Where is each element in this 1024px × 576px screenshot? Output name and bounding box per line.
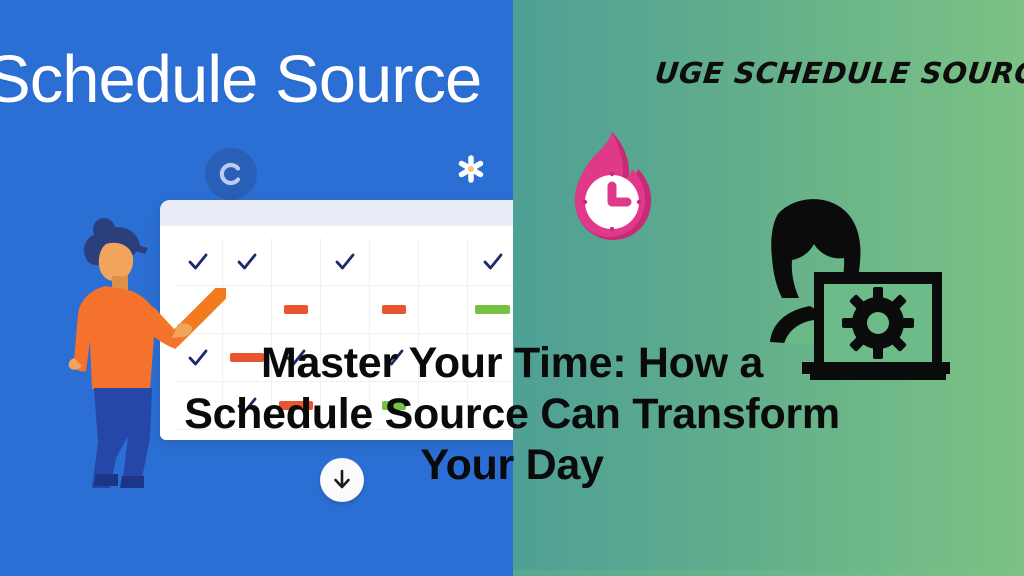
page-title: Master Your Time: How a Schedule Source … bbox=[60, 338, 964, 491]
page-title-line-3: Your Day bbox=[60, 440, 964, 491]
calendar-cell bbox=[468, 286, 517, 334]
calendar-cell bbox=[419, 286, 468, 334]
calendar-cell bbox=[272, 286, 321, 334]
checkmark-icon bbox=[483, 253, 503, 271]
calendar-cell bbox=[370, 286, 419, 334]
calendar-cell bbox=[272, 238, 321, 286]
calendar-card-header bbox=[160, 200, 525, 226]
checkmark-icon bbox=[237, 253, 257, 271]
thumbnail-canvas: Schedule Source bbox=[0, 0, 1024, 576]
checkmark-icon bbox=[335, 253, 355, 271]
flame-clock-logo bbox=[563, 130, 661, 242]
bottom-edge-band bbox=[0, 570, 1024, 576]
calendar-cell bbox=[223, 286, 272, 334]
calendar-cell bbox=[370, 238, 419, 286]
calendar-cell bbox=[223, 238, 272, 286]
hero-wordmark: Schedule Source bbox=[0, 46, 481, 113]
copyright-c-icon bbox=[205, 148, 257, 200]
calendar-cell bbox=[468, 238, 517, 286]
calendar-event-bar bbox=[475, 305, 510, 314]
brand-title: UGE SCHEDULE SOURCE bbox=[653, 56, 1007, 90]
page-title-line-1: Master Your Time: How a bbox=[60, 338, 964, 389]
sparkle-asterisk-icon bbox=[452, 150, 490, 188]
calendar-event-bar bbox=[382, 305, 405, 314]
calendar-cell bbox=[419, 238, 468, 286]
page-title-line-2: Schedule Source Can Transform bbox=[60, 389, 964, 440]
calendar-cell bbox=[321, 238, 370, 286]
calendar-event-bar bbox=[284, 305, 307, 314]
calendar-cell bbox=[321, 286, 370, 334]
